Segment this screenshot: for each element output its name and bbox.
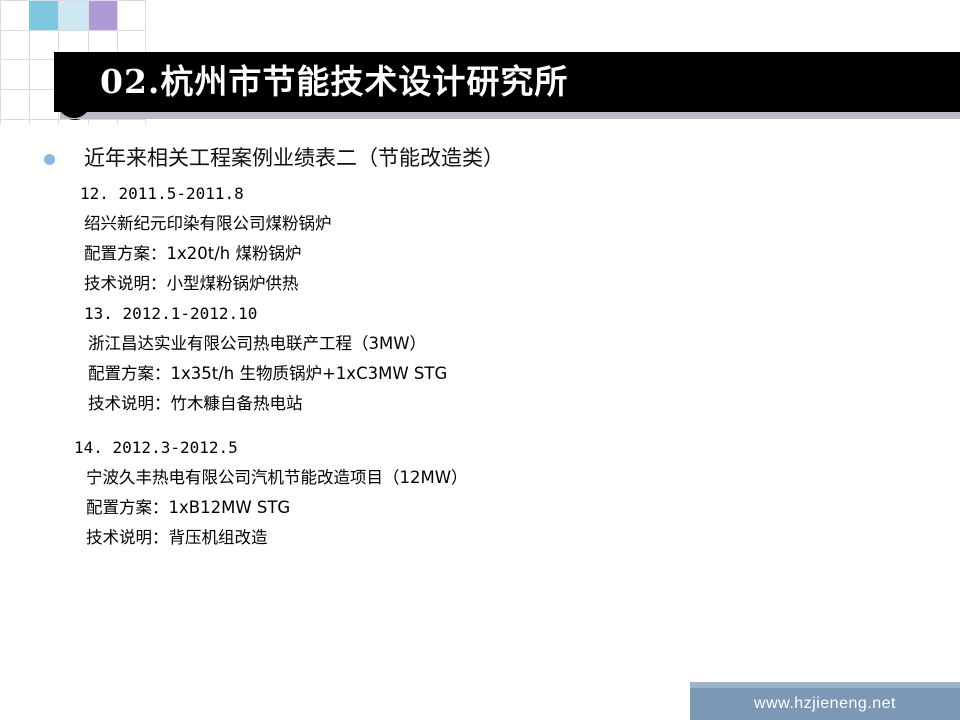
title-circle-accent (57, 84, 91, 118)
case-entry-head: 14. 2012.3-2012.5 (74, 438, 954, 457)
case-entry-line: 配置方案：1x20t/h 煤粉锅炉 (84, 239, 960, 269)
case-entry-line: 配置方案：1x35t/h 生物质锅炉+1xC3MW STG (88, 359, 960, 389)
case-entry-line: 技术说明：小型煤粉锅炉供热 (84, 269, 960, 299)
deco-square-purple (89, 1, 117, 30)
section-heading: 近年来相关工程案例业绩表二（节能改造类） (84, 142, 504, 172)
page-title: 02.杭州市节能技术设计研究所 (100, 56, 900, 108)
case-entry: 14. 2012.3-2012.5 宁波久丰热电有限公司汽机节能改造项目（12M… (74, 438, 954, 553)
bullet-icon (44, 154, 55, 165)
deco-square-blue (29, 1, 58, 30)
case-entry-line: 浙江昌达实业有限公司热电联产工程（3MW） (88, 329, 960, 359)
case-entry-line: 宁波久丰热电有限公司汽机节能改造项目（12MW） (86, 463, 954, 493)
deco-square-lightblue (59, 1, 88, 30)
case-entry-line: 绍兴新纪元印染有限公司煤粉锅炉 (84, 209, 960, 239)
case-entry-head: 12. 2011.5-2011.8 (80, 184, 960, 203)
slide-body: 近年来相关工程案例业绩表二（节能改造类） 12. 2011.5-2011.8 绍… (0, 132, 960, 672)
case-entry-line: 配置方案：1xB12MW STG (86, 493, 954, 523)
deco-gridline (0, 30, 146, 31)
deco-gridline (0, 0, 1, 124)
case-entry-line: 技术说明：竹木糠自备热电站 (88, 389, 960, 419)
case-entry: 12. 2011.5-2011.8 绍兴新纪元印染有限公司煤粉锅炉 配置方案：1… (80, 184, 960, 299)
title-bar-shadow (60, 112, 960, 119)
case-entry: 13. 2012.1-2012.10 浙江昌达实业有限公司热电联产工程（3MW）… (84, 304, 960, 419)
footer-url: www.hzjieneng.net (690, 688, 960, 720)
case-entry-line: 技术说明：背压机组改造 (86, 523, 954, 553)
section-heading-row: 近年来相关工程案例业绩表二（节能改造类） (44, 142, 924, 174)
case-entry-head: 13. 2012.1-2012.10 (84, 304, 960, 323)
